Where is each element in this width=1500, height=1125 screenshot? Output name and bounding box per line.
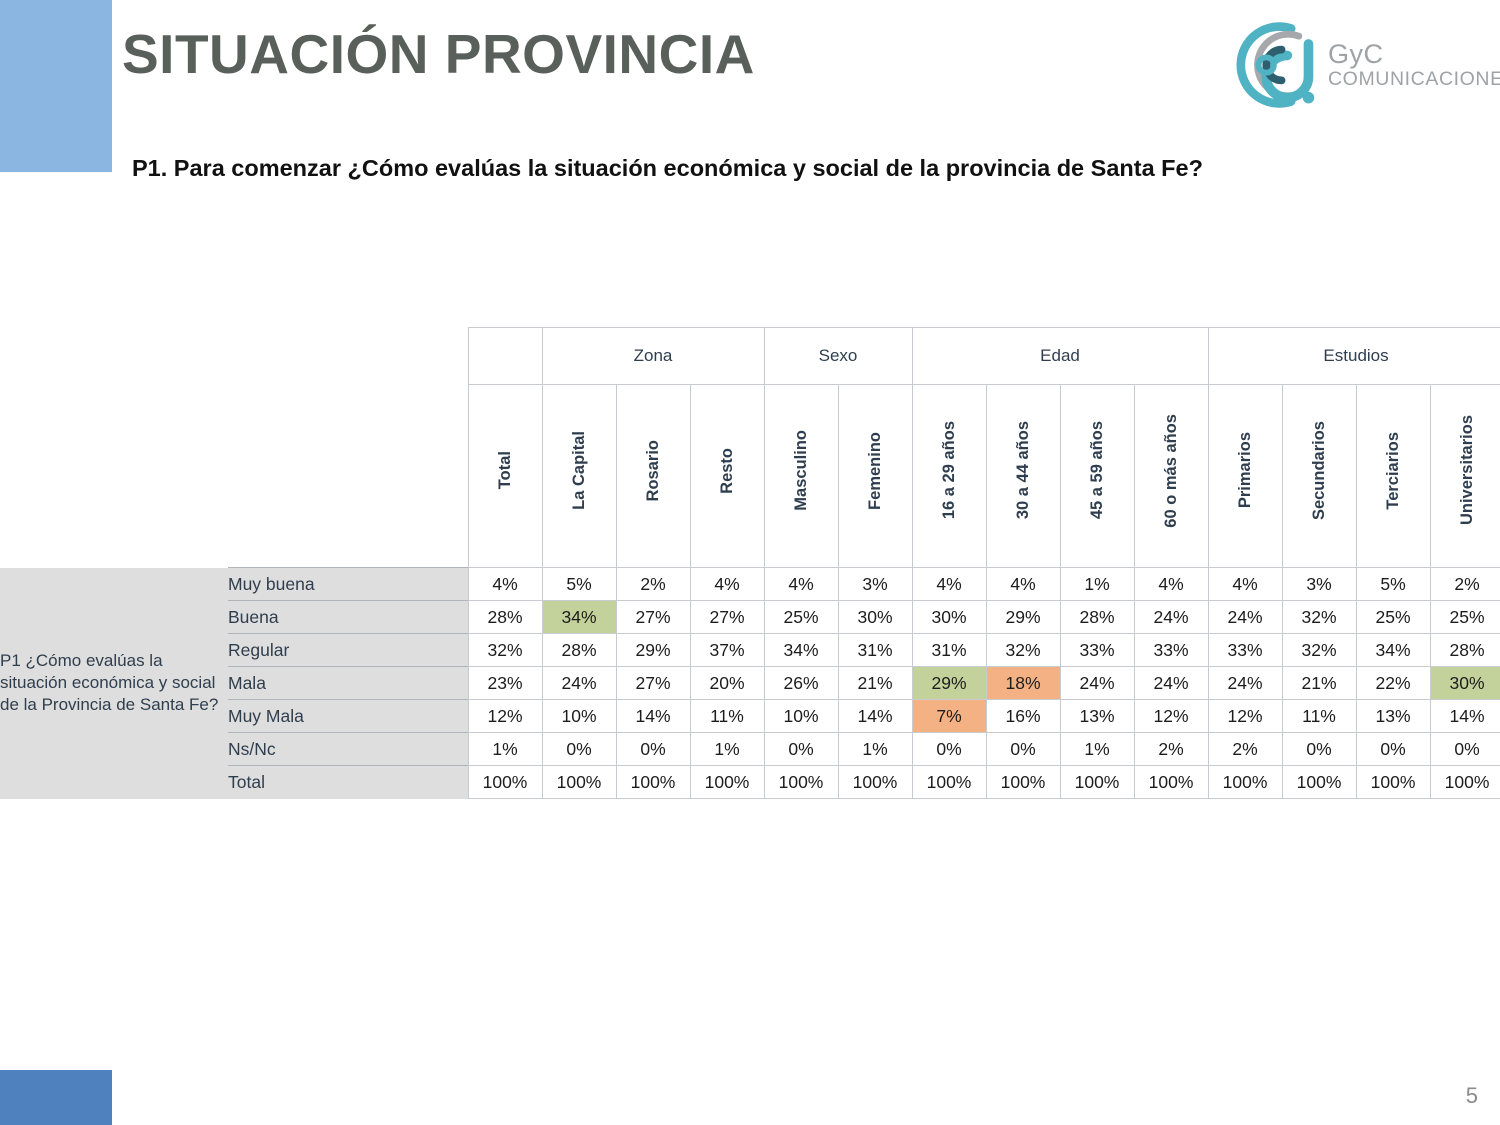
table-row: P1 ¿Cómo evalúas la situación económica … — [0, 568, 1500, 601]
group-header-zona: Zona — [542, 328, 764, 385]
data-cell: 100% — [542, 766, 616, 799]
column-header-label: Universitarios — [1458, 415, 1477, 525]
data-cell: 0% — [542, 733, 616, 766]
data-cell: 30% — [912, 601, 986, 634]
data-cell: 0% — [1430, 733, 1500, 766]
row-label-total: Total — [228, 766, 468, 799]
data-cell: 4% — [1208, 568, 1282, 601]
data-cell: 25% — [1356, 601, 1430, 634]
data-cell: 100% — [1208, 766, 1282, 799]
data-cell: 1% — [690, 733, 764, 766]
logo-wordmark: GyC COMUNICACIONES — [1328, 39, 1500, 91]
column-header-universitarios: Universitarios — [1430, 385, 1500, 568]
data-cell: 100% — [1430, 766, 1500, 799]
data-cell: 100% — [1060, 766, 1134, 799]
data-cell: 12% — [1134, 700, 1208, 733]
column-header-label: Secundarios — [1310, 421, 1329, 520]
data-cell: 28% — [1430, 634, 1500, 667]
data-cell: 24% — [1134, 667, 1208, 700]
data-cell: 21% — [838, 667, 912, 700]
column-header-resto: Resto — [690, 385, 764, 568]
data-cell: 32% — [986, 634, 1060, 667]
data-cell: 34% — [1356, 634, 1430, 667]
data-cell: 28% — [468, 601, 542, 634]
data-cell: 10% — [542, 700, 616, 733]
data-cell: 100% — [1282, 766, 1356, 799]
data-cell: 12% — [1208, 700, 1282, 733]
data-cell: 100% — [690, 766, 764, 799]
group-header-total — [468, 328, 542, 385]
data-cell: 30% — [838, 601, 912, 634]
brand-logo: GyC COMUNICACIONES — [1224, 10, 1482, 120]
column-header-label: Rosario — [644, 440, 663, 501]
data-cell: 2% — [1430, 568, 1500, 601]
data-cell: 24% — [1208, 601, 1282, 634]
data-cell: 16% — [986, 700, 1060, 733]
data-cell: 27% — [616, 601, 690, 634]
row-label-mala: Mala — [228, 667, 468, 700]
data-cell: 33% — [1134, 634, 1208, 667]
column-header-60-o-m-s-a-os: 60 o más años — [1134, 385, 1208, 568]
column-header-label: 16 a 29 años — [940, 421, 959, 519]
data-cell: 23% — [468, 667, 542, 700]
column-header-label: Femenino — [866, 432, 885, 510]
data-cell: 5% — [1356, 568, 1430, 601]
data-cell: 100% — [616, 766, 690, 799]
data-cell: 7% — [912, 700, 986, 733]
column-header-16-a-29-a-os: 16 a 29 años — [912, 385, 986, 568]
data-cell: 2% — [1208, 733, 1282, 766]
data-cell: 25% — [764, 601, 838, 634]
data-cell: 100% — [1356, 766, 1430, 799]
column-header-femenino: Femenino — [838, 385, 912, 568]
column-header-30-a-44-a-os: 30 a 44 años — [986, 385, 1060, 568]
data-cell: 13% — [1356, 700, 1430, 733]
data-cell: 1% — [838, 733, 912, 766]
data-cell: 30% — [1430, 667, 1500, 700]
row-label-muy-buena: Muy buena — [228, 568, 468, 601]
logo-line-1: GyC — [1328, 39, 1500, 69]
header-corner-spacer — [0, 328, 468, 385]
group-header-sexo: Sexo — [764, 328, 912, 385]
data-cell: 2% — [1134, 733, 1208, 766]
crosstab-head: ZonaSexoEdadEstudios TotalLa CapitalRosa… — [0, 328, 1500, 568]
data-cell: 18% — [986, 667, 1060, 700]
column-header-label: Masculino — [792, 430, 811, 511]
data-cell: 1% — [1060, 568, 1134, 601]
data-cell: 4% — [690, 568, 764, 601]
data-cell: 4% — [1134, 568, 1208, 601]
data-cell: 33% — [1208, 634, 1282, 667]
data-cell: 100% — [912, 766, 986, 799]
data-cell: 37% — [690, 634, 764, 667]
data-cell: 22% — [1356, 667, 1430, 700]
data-cell: 29% — [616, 634, 690, 667]
data-cell: 12% — [468, 700, 542, 733]
data-cell: 11% — [1282, 700, 1356, 733]
column-header-label: Resto — [718, 448, 737, 494]
column-header-label: Primarios — [1236, 432, 1255, 508]
data-cell: 27% — [690, 601, 764, 634]
data-cell: 0% — [986, 733, 1060, 766]
column-header-label: 60 o más años — [1162, 414, 1181, 528]
data-cell: 10% — [764, 700, 838, 733]
data-cell: 28% — [542, 634, 616, 667]
group-header-estudios: Estudios — [1208, 328, 1500, 385]
data-cell: 0% — [616, 733, 690, 766]
header-accent-bar — [0, 0, 112, 172]
data-cell: 20% — [690, 667, 764, 700]
data-cell: 26% — [764, 667, 838, 700]
gyc-logo-mark-icon — [1224, 17, 1320, 113]
data-cell: 33% — [1060, 634, 1134, 667]
data-cell: 4% — [468, 568, 542, 601]
data-cell: 32% — [468, 634, 542, 667]
data-cell: 31% — [912, 634, 986, 667]
data-cell: 100% — [1134, 766, 1208, 799]
data-cell: 100% — [468, 766, 542, 799]
data-cell: 34% — [764, 634, 838, 667]
data-cell: 100% — [986, 766, 1060, 799]
data-cell: 31% — [838, 634, 912, 667]
column-header-total: Total — [468, 385, 542, 568]
group-header-row: ZonaSexoEdadEstudios — [0, 328, 1500, 385]
row-label-buena: Buena — [228, 601, 468, 634]
data-cell: 0% — [764, 733, 838, 766]
data-cell: 21% — [1282, 667, 1356, 700]
column-header-label: Terciarios — [1384, 432, 1403, 510]
data-cell: 3% — [838, 568, 912, 601]
column-header-label: 45 a 59 años — [1088, 421, 1107, 519]
data-cell: 32% — [1282, 601, 1356, 634]
column-header-primarios: Primarios — [1208, 385, 1282, 568]
row-label-muy-mala: Muy Mala — [228, 700, 468, 733]
data-cell: 32% — [1282, 634, 1356, 667]
data-cell: 14% — [838, 700, 912, 733]
data-cell: 4% — [764, 568, 838, 601]
row-group-question-label: P1 ¿Cómo evalúas la situación económica … — [0, 568, 228, 799]
footer-accent-bar — [0, 1070, 112, 1125]
column-header-row: TotalLa CapitalRosarioRestoMasculinoFeme… — [0, 385, 1500, 568]
data-cell: 29% — [912, 667, 986, 700]
data-cell: 5% — [542, 568, 616, 601]
data-cell: 4% — [986, 568, 1060, 601]
data-cell: 24% — [1134, 601, 1208, 634]
page-number: 5 — [1466, 1083, 1478, 1109]
header-corner-spacer-2 — [0, 385, 468, 568]
column-header-label: Total — [496, 451, 515, 489]
crosstab-container: ZonaSexoEdadEstudios TotalLa CapitalRosa… — [0, 327, 1492, 799]
data-cell: 3% — [1282, 568, 1356, 601]
column-header-rosario: Rosario — [616, 385, 690, 568]
data-cell: 100% — [764, 766, 838, 799]
data-cell: 24% — [1208, 667, 1282, 700]
data-cell: 13% — [1060, 700, 1134, 733]
data-cell: 1% — [468, 733, 542, 766]
column-header-terciarios: Terciarios — [1356, 385, 1430, 568]
column-header-label: La Capital — [570, 431, 589, 510]
column-header-masculino: Masculino — [764, 385, 838, 568]
data-cell: 14% — [616, 700, 690, 733]
column-header-secundarios: Secundarios — [1282, 385, 1356, 568]
data-cell: 1% — [1060, 733, 1134, 766]
data-cell: 28% — [1060, 601, 1134, 634]
data-cell: 0% — [1356, 733, 1430, 766]
data-cell: 24% — [542, 667, 616, 700]
data-cell: 34% — [542, 601, 616, 634]
column-header-45-a-59-a-os: 45 a 59 años — [1060, 385, 1134, 568]
data-cell: 100% — [838, 766, 912, 799]
group-header-edad: Edad — [912, 328, 1208, 385]
row-label-regular: Regular — [228, 634, 468, 667]
data-cell: 0% — [912, 733, 986, 766]
row-label-ns-nc: Ns/Nc — [228, 733, 468, 766]
logo-line-2: COMUNICACIONES — [1328, 69, 1500, 91]
crosstab-table: ZonaSexoEdadEstudios TotalLa CapitalRosa… — [0, 327, 1500, 799]
column-header-la-capital: La Capital — [542, 385, 616, 568]
data-cell: 4% — [912, 568, 986, 601]
data-cell: 2% — [616, 568, 690, 601]
data-cell: 11% — [690, 700, 764, 733]
page-title: SITUACIÓN PROVINCIA — [122, 22, 755, 86]
data-cell: 0% — [1282, 733, 1356, 766]
crosstab-body: P1 ¿Cómo evalúas la situación económica … — [0, 568, 1500, 799]
data-cell: 27% — [616, 667, 690, 700]
column-header-label: 30 a 44 años — [1014, 421, 1033, 519]
question-heading: P1. Para comenzar ¿Cómo evalúas la situa… — [132, 155, 1203, 182]
data-cell: 24% — [1060, 667, 1134, 700]
data-cell: 29% — [986, 601, 1060, 634]
data-cell: 25% — [1430, 601, 1500, 634]
data-cell: 14% — [1430, 700, 1500, 733]
